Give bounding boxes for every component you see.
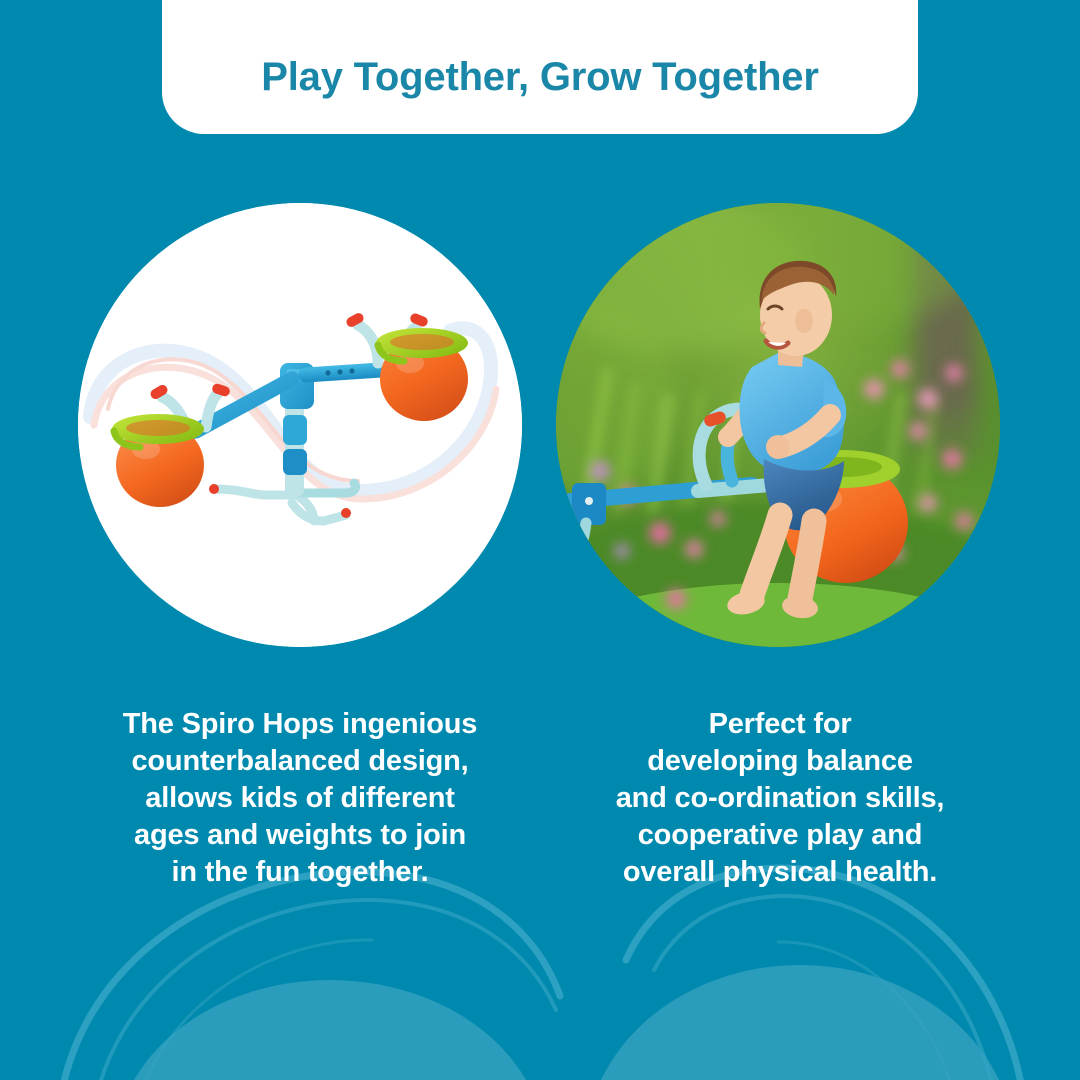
decor-arc — [132, 940, 372, 1080]
product-image-circle — [78, 203, 522, 647]
caption-line: ages and weights to join — [62, 817, 538, 854]
decor-arc — [92, 900, 556, 1080]
photo-lawn — [556, 583, 1000, 647]
decor-mound-right — [585, 965, 1015, 1080]
page-title: Play Together, Grow Together — [261, 55, 818, 100]
decor-arc — [58, 872, 560, 1080]
caption-line: and co-ordination skills, — [542, 780, 1018, 817]
poster-canvas: Play Together, Grow Together — [0, 0, 1080, 1080]
caption-line: counterbalanced design, — [62, 743, 538, 780]
decor-arc — [654, 896, 998, 1080]
decor-arc — [778, 942, 960, 1080]
caption-line: overall physical health. — [542, 854, 1018, 891]
header-card: Play Together, Grow Together — [162, 0, 918, 134]
lifestyle-photo-circle — [556, 203, 1000, 647]
caption-line: in the fun together. — [62, 854, 538, 891]
caption-line: allows kids of different — [62, 780, 538, 817]
caption-line: developing balance — [542, 743, 1018, 780]
decor-arc — [626, 868, 1026, 1080]
caption-line: The Spiro Hops ingenious — [62, 706, 538, 743]
caption-line: Perfect for — [542, 706, 1018, 743]
caption-left: The Spiro Hops ingenious counterbalanced… — [62, 706, 538, 891]
decor-mound-left — [115, 980, 545, 1080]
caption-right: Perfect for developing balance and co-or… — [542, 706, 1018, 891]
caption-line: cooperative play and — [542, 817, 1018, 854]
